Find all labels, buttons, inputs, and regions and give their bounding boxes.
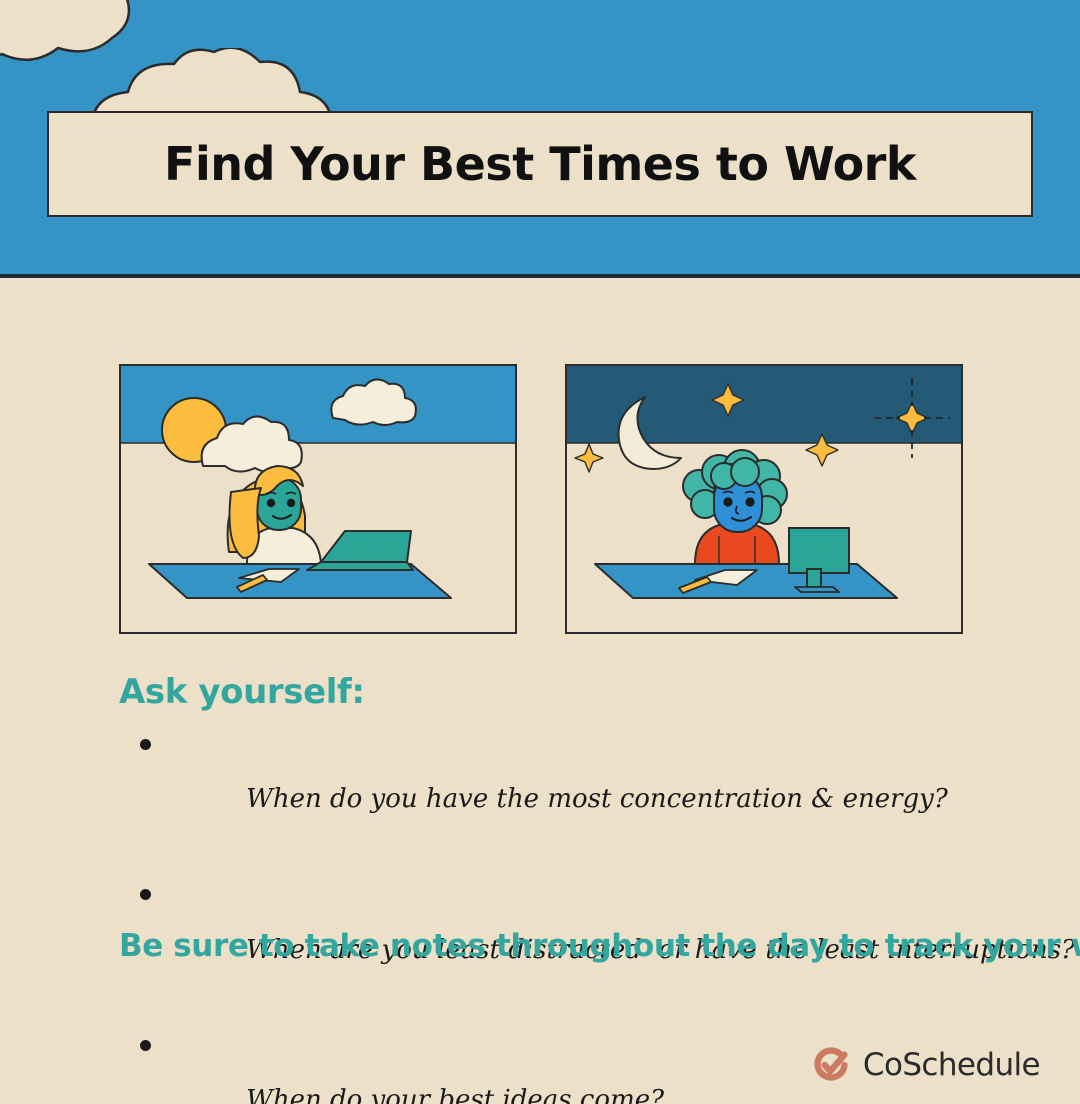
hair-strand — [230, 488, 262, 558]
list-item: When do you have the most concentration … — [119, 728, 1019, 842]
eye — [267, 499, 275, 507]
daytime-scene-panel — [119, 364, 517, 634]
nighttime-scene-panel — [565, 364, 963, 634]
logo-wordmark: CoSchedule — [863, 1047, 1040, 1083]
eye — [745, 497, 754, 506]
header-band: Find Your Best Times to Work — [0, 0, 1080, 278]
closing-statement: Be sure to take notes throughout the day… — [119, 928, 1080, 964]
bullet-dot-icon — [140, 1040, 151, 1051]
list-item-label: When do you have the most concentration … — [246, 784, 948, 814]
infographic-page: Find Your Best Times to Work — [0, 0, 1080, 1104]
page-title: Find Your Best Times to Work — [164, 137, 916, 191]
desk — [595, 564, 897, 598]
coschedule-logo: CoSchedule — [812, 1046, 1040, 1084]
coschedule-check-icon — [812, 1046, 850, 1084]
list-item-label: When do your best ideas come? — [246, 1085, 664, 1104]
title-banner: Find Your Best Times to Work — [47, 111, 1033, 217]
bullet-dot-icon — [140, 739, 151, 750]
illustration-panels — [0, 364, 1080, 634]
bullet-dot-icon — [140, 889, 151, 900]
ask-yourself-heading: Ask yourself: — [119, 672, 365, 712]
eye — [287, 499, 295, 507]
eye — [723, 497, 732, 506]
